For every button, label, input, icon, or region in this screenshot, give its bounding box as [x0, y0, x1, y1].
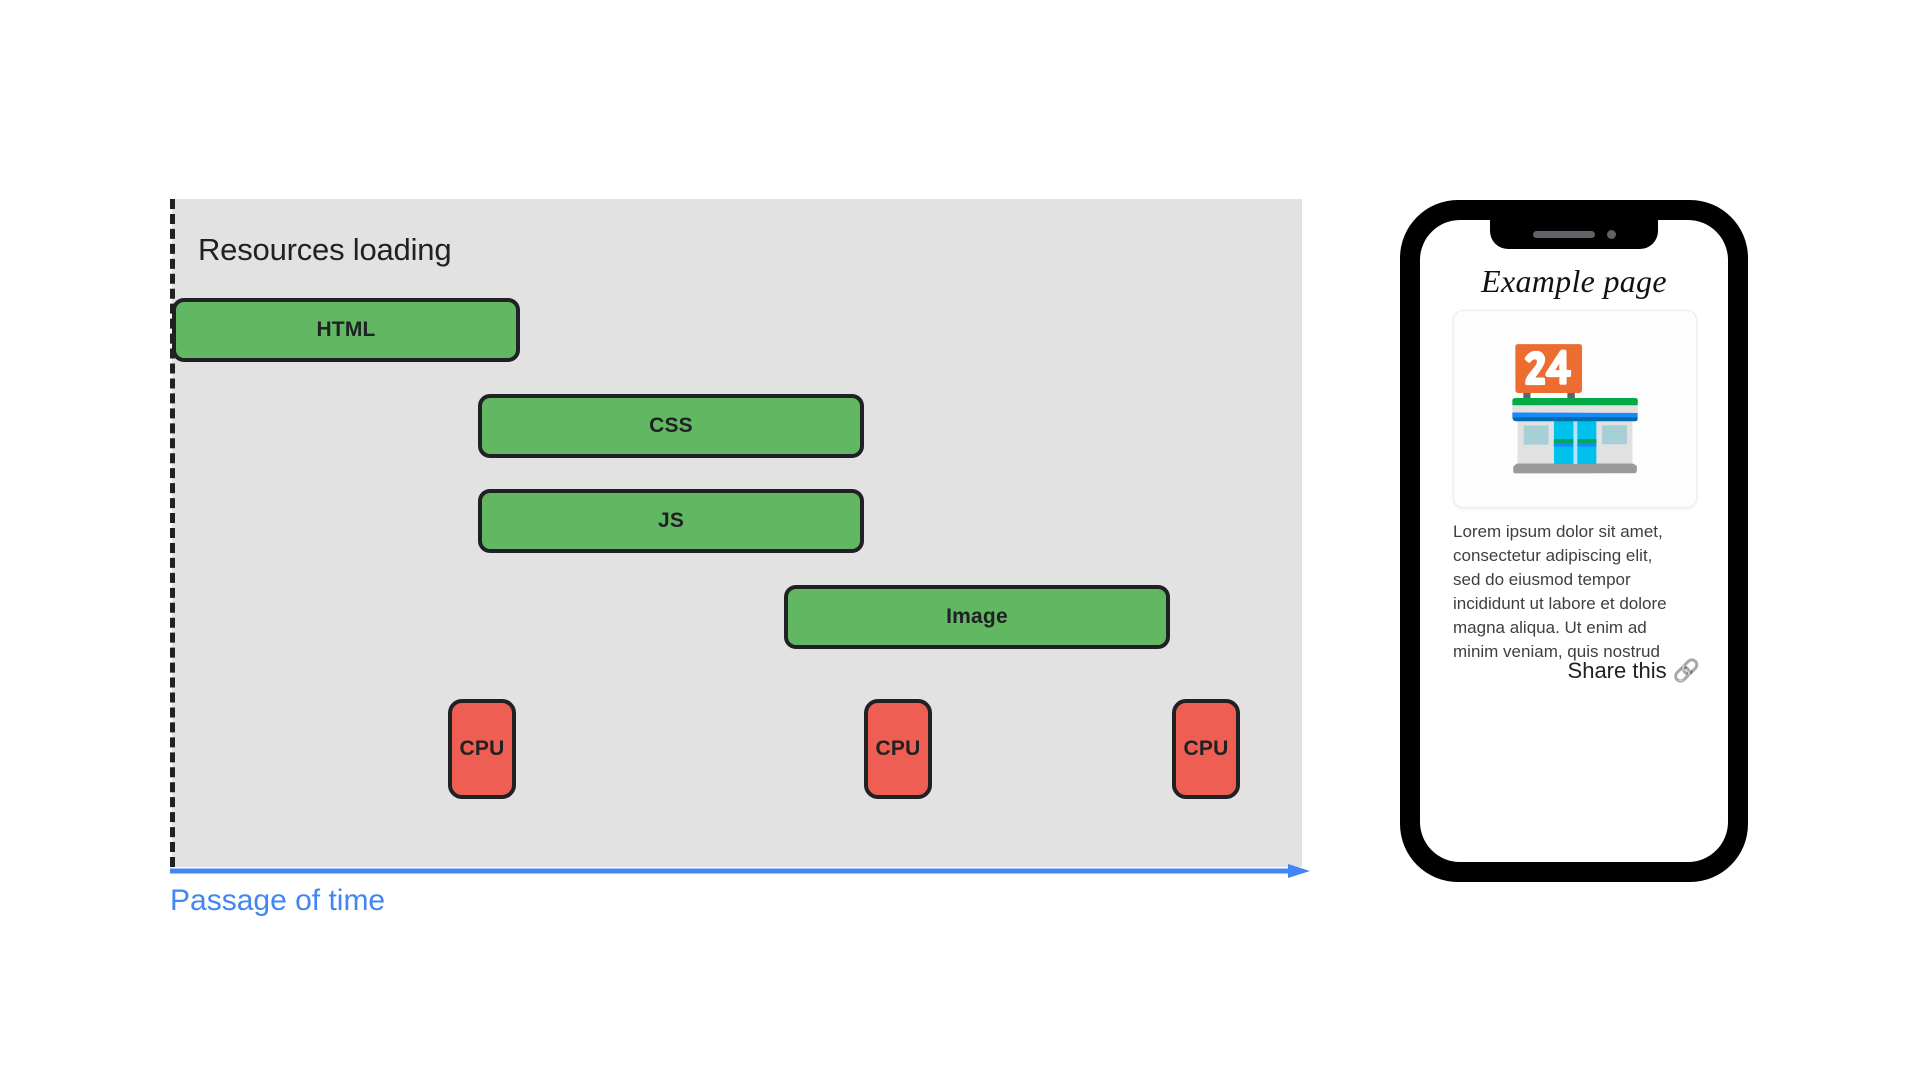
- share-link[interactable]: Share this🔗: [1420, 658, 1700, 684]
- resource-bar-js: JS: [478, 489, 864, 553]
- cpu-block-2-label: CPU: [876, 737, 921, 761]
- resource-bar-html-label: HTML: [316, 318, 375, 342]
- front-camera-icon: [1607, 230, 1616, 239]
- time-axis-arrow: [170, 864, 1310, 878]
- time-axis-arrow-icon: [170, 864, 1310, 878]
- share-link-label: Share this: [1568, 658, 1667, 683]
- resource-bar-html: HTML: [172, 298, 520, 362]
- example-page-heading: Example page: [1420, 263, 1728, 300]
- resource-bar-image-label: Image: [946, 605, 1008, 629]
- cpu-block-1-label: CPU: [460, 737, 505, 761]
- page-title: Resources loading: [198, 232, 451, 268]
- resource-bar-css-label: CSS: [649, 414, 693, 438]
- phone-notch: [1490, 220, 1658, 249]
- diagram-stage: Resources loading HTML CSS JS Image CPU …: [0, 0, 1920, 1080]
- store-icon: 🏪: [1502, 350, 1649, 468]
- resource-bar-js-label: JS: [658, 509, 684, 533]
- cpu-block-1: CPU: [448, 699, 516, 799]
- phone-screen: Example page 🏪 Lorem ipsum dolor sit ame…: [1420, 220, 1728, 862]
- phone-mockup: Example page 🏪 Lorem ipsum dolor sit ame…: [1400, 200, 1748, 882]
- cpu-block-2: CPU: [864, 699, 932, 799]
- cpu-block-3-label: CPU: [1184, 737, 1229, 761]
- page-body-text: Lorem ipsum dolor sit amet, consectetur …: [1453, 520, 1675, 664]
- cpu-block-3: CPU: [1172, 699, 1240, 799]
- resource-bar-css: CSS: [478, 394, 864, 458]
- navigation-start-dashed-line: [170, 199, 175, 867]
- earpiece-speaker-icon: [1533, 231, 1595, 238]
- link-icon: 🔗: [1673, 658, 1700, 684]
- time-axis-label: Passage of time: [170, 884, 385, 918]
- page-image-card: 🏪: [1453, 310, 1697, 508]
- resource-bar-image: Image: [784, 585, 1170, 649]
